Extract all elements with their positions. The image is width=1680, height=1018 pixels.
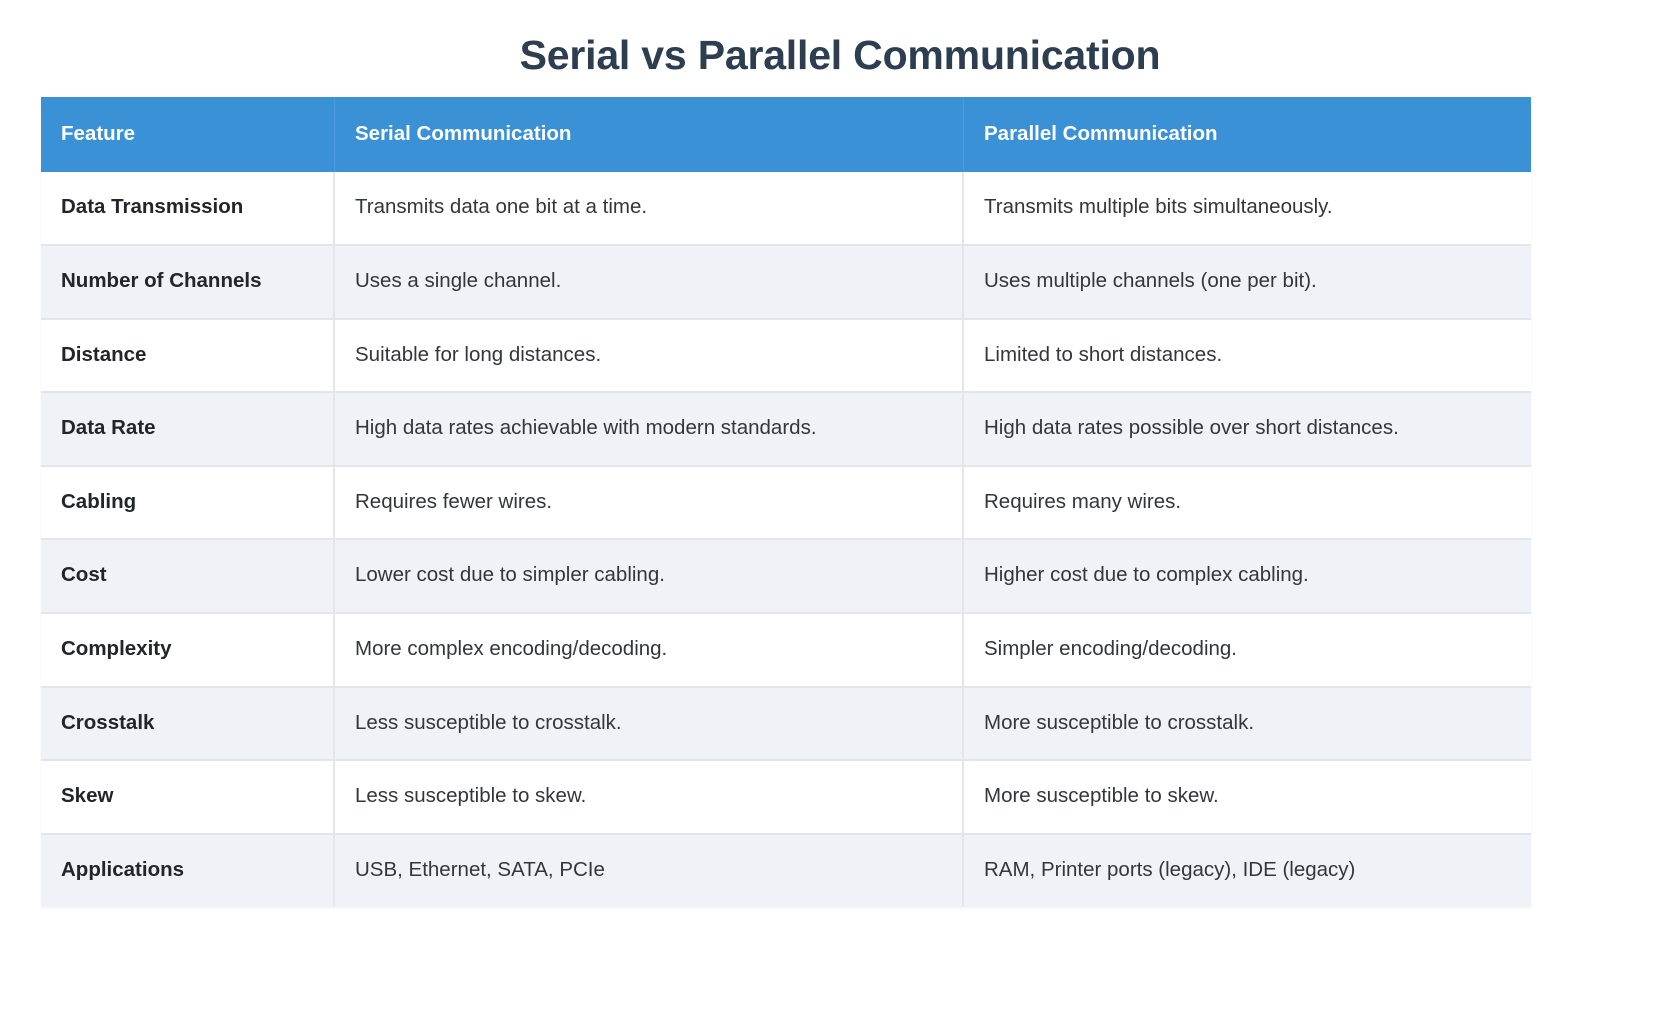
table-cell-feature: Number of Channels [41, 246, 335, 320]
table-container: Feature Serial Communication Parallel Co… [41, 97, 1531, 906]
table-cell-serial: Lower cost due to simpler cabling. [335, 540, 964, 614]
table-cell-parallel: Simpler encoding/decoding. [964, 614, 1531, 688]
table-cell-feature: Applications [41, 835, 335, 907]
table-cell-feature: Cost [41, 540, 335, 614]
table-cell-parallel: More susceptible to skew. [964, 761, 1531, 835]
comparison-table-page: Serial vs Parallel Communication Feature… [0, 0, 1680, 1018]
table-cell-serial: Less susceptible to skew. [335, 761, 964, 835]
serial-vs-parallel-table: Feature Serial Communication Parallel Co… [41, 97, 1531, 906]
table-row: CostLower cost due to simpler cabling.Hi… [41, 540, 1531, 614]
table-cell-serial: Suitable for long distances. [335, 320, 964, 394]
table-row: CrosstalkLess susceptible to crosstalk.M… [41, 688, 1531, 762]
table-cell-parallel: Uses multiple channels (one per bit). [964, 246, 1531, 320]
table-row: Data TransmissionTransmits data one bit … [41, 172, 1531, 246]
table-cell-feature: Data Rate [41, 393, 335, 467]
table-cell-parallel: Transmits multiple bits simultaneously. [964, 172, 1531, 246]
column-header-feature[interactable]: Feature [41, 97, 335, 172]
table-cell-parallel: RAM, Printer ports (legacy), IDE (legacy… [964, 835, 1531, 907]
table-header-row: Feature Serial Communication Parallel Co… [41, 97, 1531, 172]
table-cell-serial: More complex encoding/decoding. [335, 614, 964, 688]
table-cell-feature: Distance [41, 320, 335, 394]
table-cell-feature: Skew [41, 761, 335, 835]
page-title: Serial vs Parallel Communication [0, 0, 1680, 81]
table-cell-parallel: High data rates possible over short dist… [964, 393, 1531, 467]
table-row: DistanceSuitable for long distances.Limi… [41, 320, 1531, 394]
table-cell-parallel: Requires many wires. [964, 467, 1531, 541]
table-cell-serial: Requires fewer wires. [335, 467, 964, 541]
table-cell-feature: Data Transmission [41, 172, 335, 246]
table-cell-serial: USB, Ethernet, SATA, PCIe [335, 835, 964, 907]
table-cell-serial: Uses a single channel. [335, 246, 964, 320]
table-row: SkewLess susceptible to skew.More suscep… [41, 761, 1531, 835]
table-cell-parallel: Limited to short distances. [964, 320, 1531, 394]
table-cell-feature: Complexity [41, 614, 335, 688]
column-header-parallel[interactable]: Parallel Communication [964, 97, 1531, 172]
table-cell-serial: Transmits data one bit at a time. [335, 172, 964, 246]
table-header: Feature Serial Communication Parallel Co… [41, 97, 1531, 172]
table-row: ComplexityMore complex encoding/decoding… [41, 614, 1531, 688]
table-row: Number of ChannelsUses a single channel.… [41, 246, 1531, 320]
table-row: ApplicationsUSB, Ethernet, SATA, PCIeRAM… [41, 835, 1531, 907]
table-body: Data TransmissionTransmits data one bit … [41, 172, 1531, 906]
table-row: Data RateHigh data rates achievable with… [41, 393, 1531, 467]
table-cell-feature: Cabling [41, 467, 335, 541]
table-cell-feature: Crosstalk [41, 688, 335, 762]
table-cell-parallel: More susceptible to crosstalk. [964, 688, 1531, 762]
column-header-serial[interactable]: Serial Communication [335, 97, 964, 172]
table-row: CablingRequires fewer wires.Requires man… [41, 467, 1531, 541]
table-cell-serial: High data rates achievable with modern s… [335, 393, 964, 467]
table-cell-serial: Less susceptible to crosstalk. [335, 688, 964, 762]
table-cell-parallel: Higher cost due to complex cabling. [964, 540, 1531, 614]
